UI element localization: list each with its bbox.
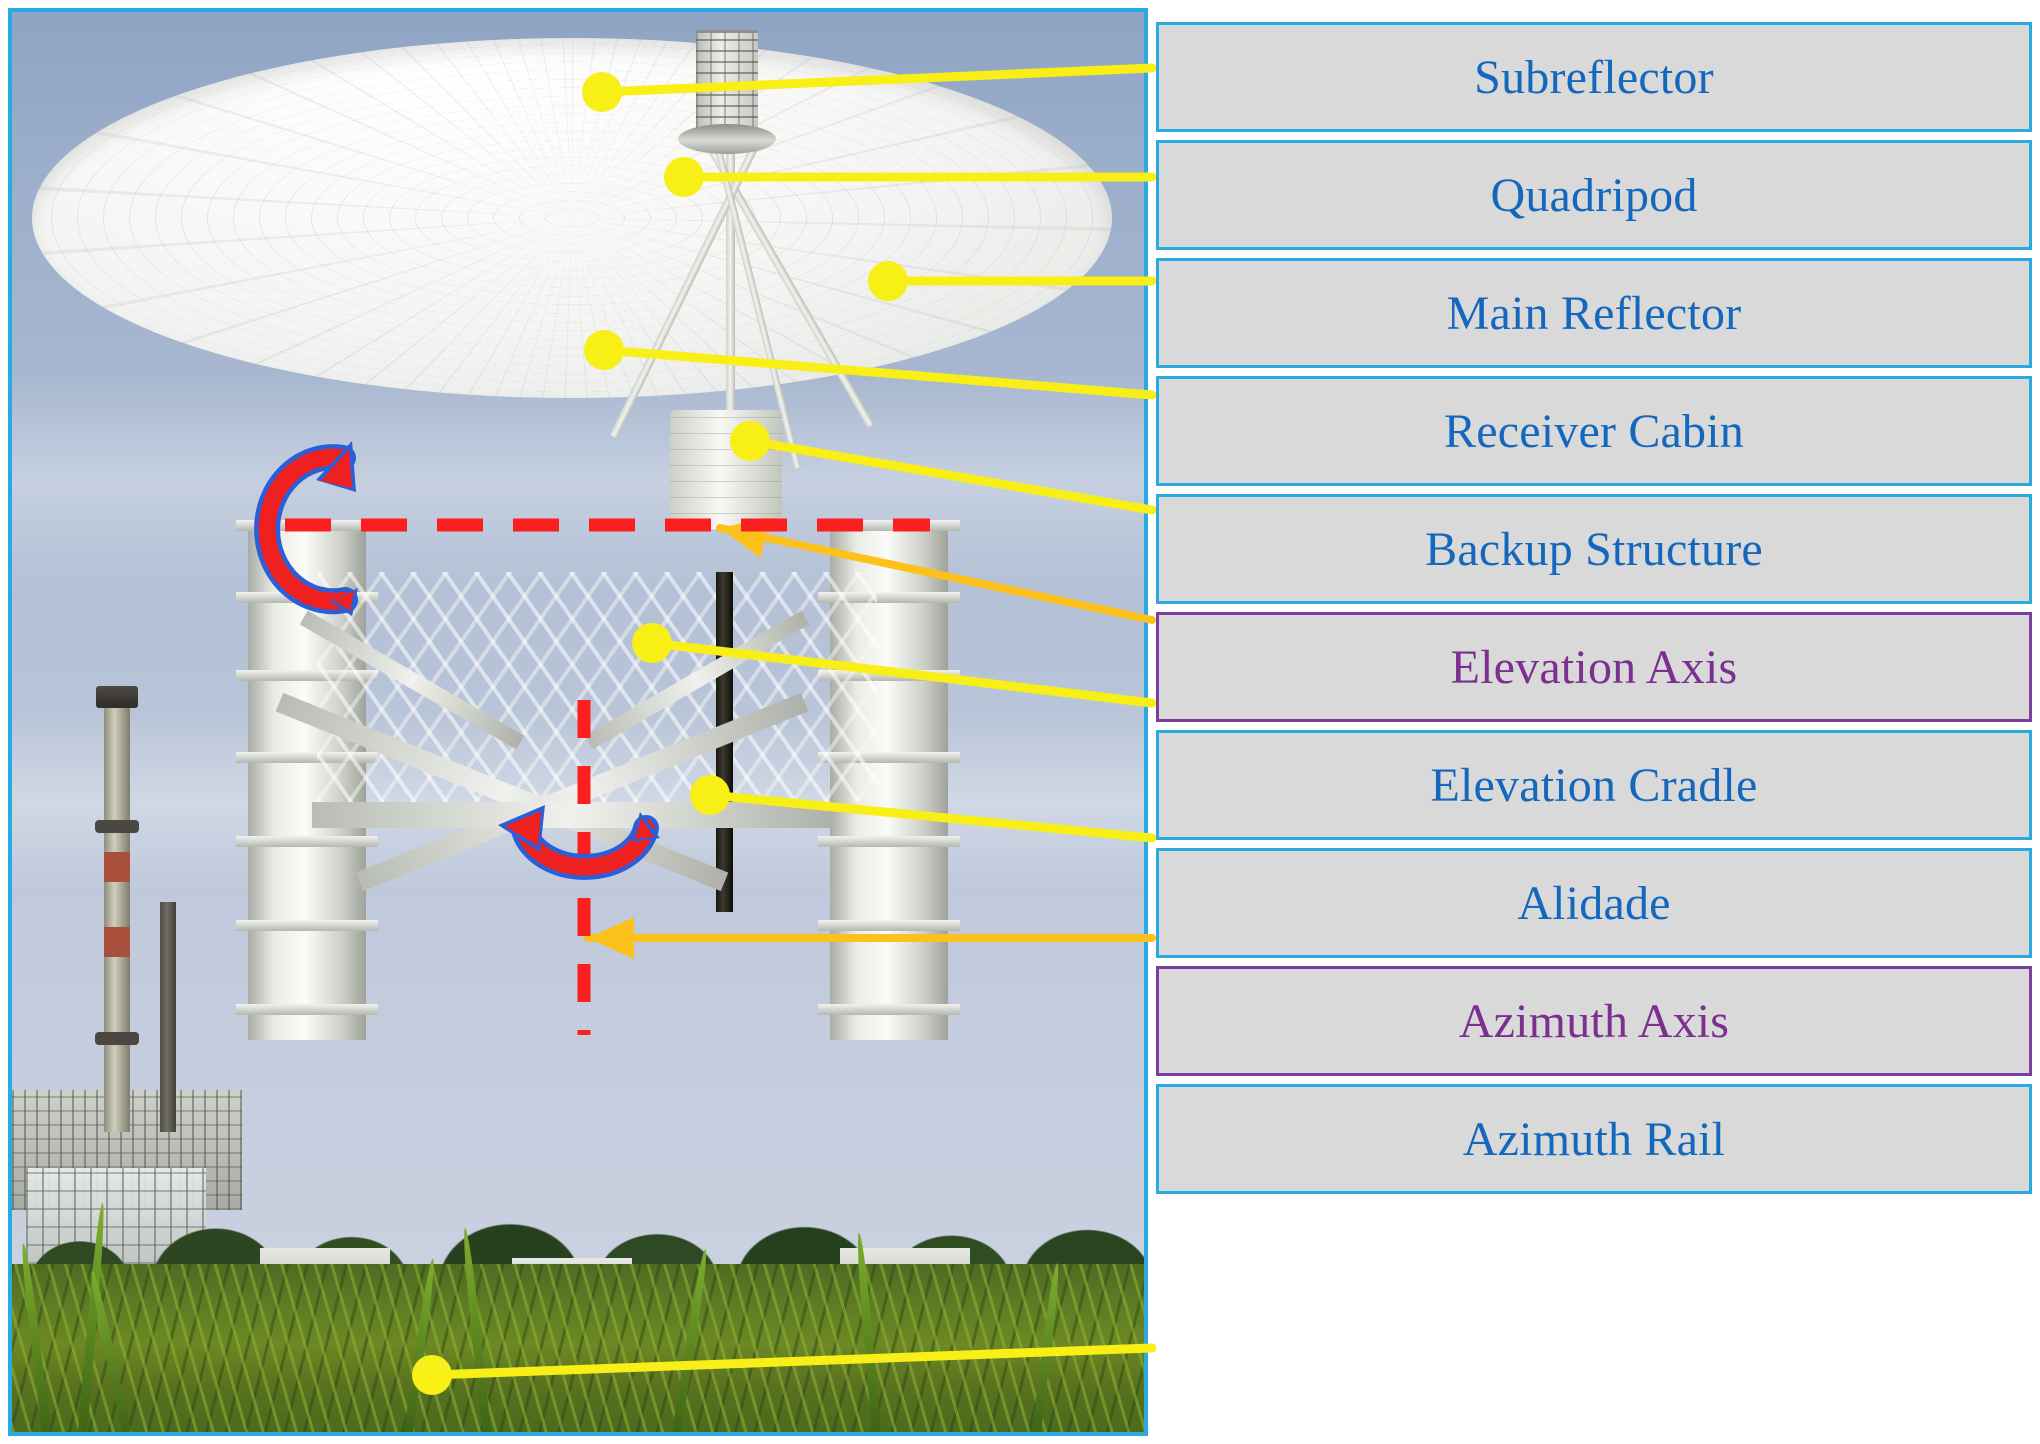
subreflector-dish [678,124,776,154]
label-box-receiver-cabin: Receiver Cabin [1156,376,2032,486]
chimney-cap [96,686,138,708]
label-text-elevation-cradle: Elevation Cradle [1430,758,1757,813]
label-text-subreflector: Subreflector [1474,50,1714,105]
grass-foreground [12,1264,1144,1432]
label-box-elevation-axis: Elevation Axis [1156,612,2032,722]
label-box-alidade: Alidade [1156,848,2032,958]
label-text-azimuth-axis: Azimuth Axis [1459,994,1729,1049]
label-text-backup-structure: Backup Structure [1425,522,1763,577]
label-box-backup-structure: Backup Structure [1156,494,2032,604]
chimney-collar [95,1032,139,1045]
label-text-main-reflector: Main Reflector [1447,286,1742,341]
treeline [12,1094,1144,1284]
alidade-cross-beam [312,802,832,828]
figure-root: SubreflectorQuadripodMain ReflectorRecei… [0,0,2040,1444]
label-box-azimuth-axis: Azimuth Axis [1156,966,2032,1076]
telescope-photo [12,12,1144,1432]
striped-chimney [104,702,130,1132]
label-text-alidade: Alidade [1517,876,1670,931]
label-box-quadripod: Quadripod [1156,140,2032,250]
chimney-collar [95,820,139,833]
label-text-receiver-cabin: Receiver Cabin [1444,404,1744,459]
elevation-cradle-truss [317,572,877,802]
label-text-azimuth-rail: Azimuth Rail [1463,1112,1725,1167]
main-reflector-surface [32,38,1112,398]
label-box-main-reflector: Main Reflector [1156,258,2032,368]
label-text-elevation-axis: Elevation Axis [1451,640,1738,695]
telescope-photo-frame [8,8,1148,1436]
label-box-elevation-cradle: Elevation Cradle [1156,730,2032,840]
cloud-band [12,372,1144,592]
label-box-azimuth-rail: Azimuth Rail [1156,1084,2032,1194]
label-text-quadripod: Quadripod [1490,168,1697,223]
chimney-stripe [104,852,130,882]
receiver-cabin-housing [670,410,782,530]
label-box-subreflector: Subreflector [1156,22,2032,132]
chimney-stripe [104,927,130,957]
